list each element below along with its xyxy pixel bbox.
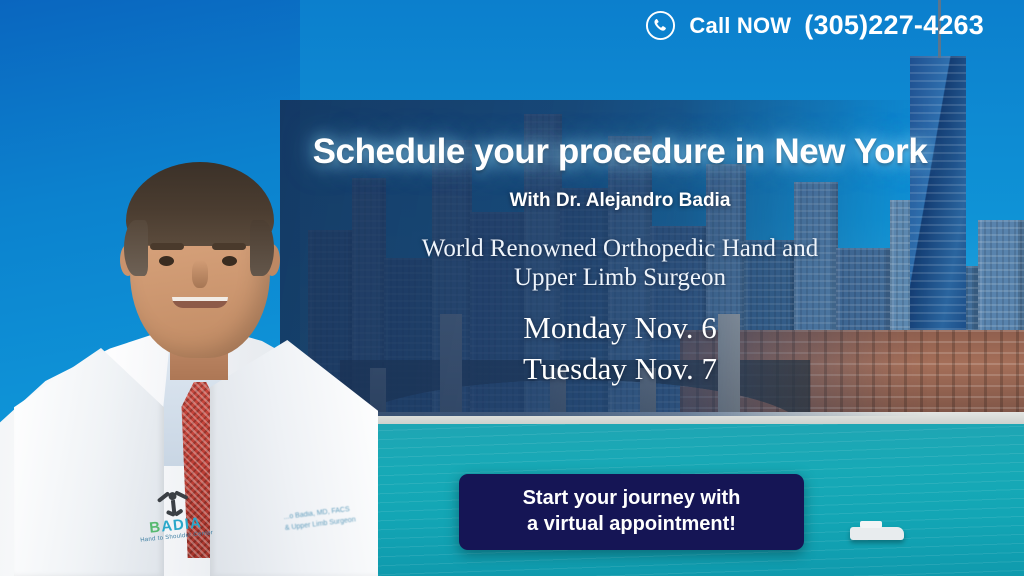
event-date-2: Tuesday Nov. 7 [280,349,960,390]
eyebrow-right [212,243,246,250]
phone-number[interactable]: (305)227-4263 [804,10,984,41]
cta-line-1: Start your journey with [523,486,741,512]
hair-temple-right [250,220,274,276]
nose [192,260,208,288]
mouth [172,297,228,308]
promo-banner: Call NOW (305)227-4263 Schedule your pro… [0,0,1024,576]
call-now-bar[interactable]: Call NOW (305)227-4263 [645,10,984,41]
phone-circle-icon [645,10,676,41]
event-dates: Monday Nov. 6 Tuesday Nov. 7 [280,308,960,390]
credentials-line-1: World Renowned Orthopedic Hand and [280,234,960,263]
page-title: Schedule your procedure in New York [280,132,960,172]
eyebrow-left [150,243,184,250]
promo-content: Schedule your procedure in New York With… [280,100,960,390]
boat [850,527,904,540]
doctor-subtitle: With Dr. Alejandro Badia [280,190,960,212]
doctor-portrait: BADIA Hand to Shoulder Center ...o Badia… [0,106,372,576]
hair-temple-left [124,220,148,276]
call-now-label: Call NOW [689,13,791,39]
credentials-line-2: Upper Limb Surgeon [280,263,960,292]
cta-line-2: a virtual appointment! [527,512,736,538]
eye-right [222,256,237,266]
event-date-1: Monday Nov. 6 [280,308,960,349]
credentials-text: World Renowned Orthopedic Hand and Upper… [280,234,960,292]
eye-left [159,256,174,266]
raised-arms-figure-icon [155,490,191,517]
virtual-appointment-cta-button[interactable]: Start your journey with a virtual appoin… [459,474,804,550]
